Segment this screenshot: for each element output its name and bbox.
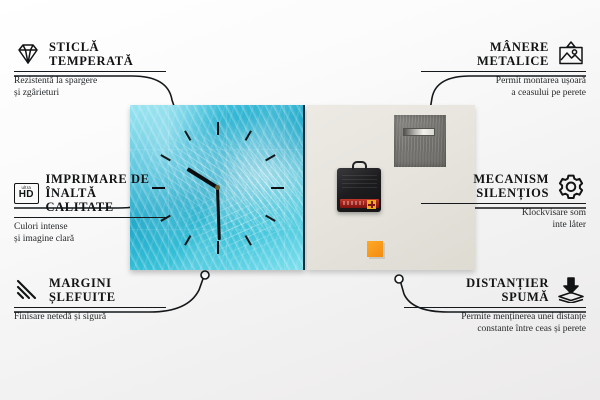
callout-title: MECANISM SILENȚIOS xyxy=(473,172,549,200)
callout-description: Permite menținerea unei distanțe constan… xyxy=(404,311,586,336)
mechanism-label-etching xyxy=(342,175,377,192)
callout-divider xyxy=(14,217,166,218)
quartz-mechanism xyxy=(337,168,381,212)
callout-tempered-glass: STICLĂ TEMPERATĂ Rezistentă la spargere … xyxy=(14,40,166,100)
infographic-canvas: STICLĂ TEMPERATĂ Rezistentă la spargere … xyxy=(0,0,600,400)
leader-endpoint-polished-edges xyxy=(201,271,209,279)
callout-foam-spacer: DISTANȚIER SPUMĂ Permite menținerea unei… xyxy=(404,276,586,336)
battery xyxy=(340,199,379,209)
callout-title: MÂNERE METALICE xyxy=(477,40,549,68)
callout-description: Rezistentă la spargere și zgârieturi xyxy=(14,75,166,100)
callout-description: Culori intense și imagine clară xyxy=(14,221,166,246)
callout-silent-mechanism: MECANISM SILENȚIOS Klockvisare som inte … xyxy=(421,172,586,232)
ultra-hd-badge-icon: ultra HD xyxy=(14,183,39,204)
hour-marker xyxy=(271,187,284,189)
hour-marker xyxy=(265,154,276,161)
clock-hour-hand xyxy=(186,167,219,189)
battery-label xyxy=(343,201,364,205)
hanger-slot xyxy=(403,128,435,136)
callout-divider xyxy=(404,307,586,308)
callout-title: STICLĂ TEMPERATĂ xyxy=(49,40,133,68)
callout-divider xyxy=(14,307,166,308)
hour-marker xyxy=(244,130,251,141)
foam-spacer-pad xyxy=(367,241,383,257)
diamond-icon xyxy=(14,42,42,66)
mechanism-hanging-loop xyxy=(352,161,367,170)
callout-divider xyxy=(421,203,586,204)
arrow-onto-stack-icon xyxy=(556,277,586,303)
callout-description: Klockvisare som inte låter xyxy=(421,207,586,232)
callout-description: Permit montarea ușoară a ceasului pe per… xyxy=(421,75,586,100)
callout-title: DISTANȚIER SPUMĂ xyxy=(466,276,549,304)
hour-marker xyxy=(184,235,191,246)
callout-divider xyxy=(14,71,166,72)
hour-marker xyxy=(160,154,171,161)
leader-endpoint-foam-spacer xyxy=(395,275,403,283)
hour-marker xyxy=(265,214,276,221)
callout-description: Finisare netedă și sigură xyxy=(14,311,166,323)
callout-metal-handles: MÂNERE METALICE Permit montarea ușoară a… xyxy=(421,40,586,100)
callout-divider xyxy=(421,71,586,72)
metal-hanger-plate xyxy=(394,115,446,167)
hour-marker xyxy=(217,241,219,254)
callout-polished-edges: MARGINI ȘLEFUITE Finisare netedă și sigu… xyxy=(14,276,166,323)
hour-marker xyxy=(244,235,251,246)
diagonal-lines-icon xyxy=(14,278,42,302)
hanging-picture-frame-icon xyxy=(556,41,586,67)
clock-center-cap xyxy=(215,185,220,190)
callout-title: IMPRIMARE DE ÎNALTĂ CALITATE xyxy=(46,172,166,214)
hour-marker xyxy=(217,122,219,135)
hour-marker xyxy=(184,130,191,141)
callout-high-quality-print: ultra HD IMPRIMARE DE ÎNALTĂ CALITATE Cu… xyxy=(14,172,166,246)
callout-title: MARGINI ȘLEFUITE xyxy=(49,276,116,304)
battery-plus-terminal xyxy=(367,200,376,209)
clock-minute-hand xyxy=(216,187,221,239)
gear-icon xyxy=(556,173,586,200)
